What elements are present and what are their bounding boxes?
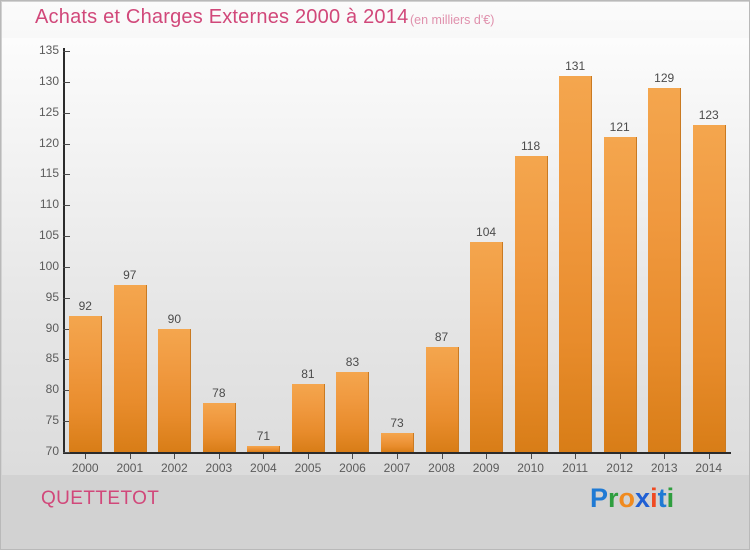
logo-letter: o	[619, 485, 636, 512]
x-axis-tick	[130, 454, 131, 459]
bar-value-label: 87	[412, 330, 472, 344]
bar-value-label: 83	[322, 355, 382, 369]
chart-header: Achats et Charges Externes 2000 à 2014 (…	[2, 2, 750, 38]
y-axis-tick	[63, 113, 70, 114]
plot-area: 707580859095100105110115120125130135 200…	[2, 38, 750, 475]
bar-value-label: 73	[367, 416, 427, 430]
y-axis-line	[63, 48, 65, 454]
logo-letter: P	[590, 485, 608, 512]
bar[interactable]	[693, 125, 726, 452]
bar-value-label: 78	[189, 386, 249, 400]
y-axis-tick-label: 95	[17, 290, 59, 304]
y-axis-tick-label: 110	[17, 197, 59, 211]
bar[interactable]	[203, 403, 236, 452]
bar-value-label: 104	[456, 225, 516, 239]
logo-letter: t	[658, 485, 667, 512]
bar[interactable]	[69, 316, 102, 452]
bar-value-label: 118	[501, 139, 561, 153]
y-axis-tick	[63, 82, 70, 83]
x-axis-tick-label: 2014	[679, 461, 739, 475]
y-axis-tick-label: 75	[17, 413, 59, 427]
x-axis-tick	[531, 454, 532, 459]
x-axis-tick	[575, 454, 576, 459]
chart-footer: QUETTETOT Proxiti	[2, 475, 750, 550]
bar[interactable]	[381, 433, 414, 452]
bar-value-label: 123	[679, 108, 739, 122]
y-axis-tick-label: 85	[17, 351, 59, 365]
page-title: Achats et Charges Externes 2000 à 2014	[35, 6, 408, 29]
x-axis-tick	[219, 454, 220, 459]
chart-units-subtitle: (en milliers d'€)	[410, 13, 494, 27]
y-axis-tick-label: 135	[17, 43, 59, 57]
logo-letter: i	[667, 485, 675, 512]
y-axis-tick-label: 105	[17, 228, 59, 242]
y-axis-tick-label: 130	[17, 74, 59, 88]
bar[interactable]	[158, 329, 191, 452]
y-axis-tick-label: 115	[17, 166, 59, 180]
logo-letter: i	[650, 485, 658, 512]
y-axis-tick-label: 125	[17, 105, 59, 119]
x-axis-tick	[620, 454, 621, 459]
bar[interactable]	[648, 88, 681, 452]
y-axis-tick	[63, 144, 70, 145]
bar[interactable]	[247, 446, 280, 452]
y-axis-tick	[63, 452, 70, 453]
bar-value-label: 90	[144, 312, 204, 326]
x-axis-tick	[174, 454, 175, 459]
x-axis-tick	[263, 454, 264, 459]
bar[interactable]	[470, 242, 503, 452]
chart-window: Achats et Charges Externes 2000 à 2014 (…	[0, 0, 750, 550]
bar-value-label: 121	[590, 120, 650, 134]
y-axis-tick-label: 100	[17, 259, 59, 273]
bar[interactable]	[604, 137, 637, 452]
bar-value-label: 71	[233, 429, 293, 443]
x-axis-tick	[308, 454, 309, 459]
y-axis-tick-label: 80	[17, 382, 59, 396]
y-axis-tick-label: 90	[17, 321, 59, 335]
bar-value-label: 131	[545, 59, 605, 73]
x-axis-tick	[442, 454, 443, 459]
y-axis-tick-label: 70	[17, 444, 59, 458]
bar-value-label: 97	[100, 268, 160, 282]
logo-letter: r	[608, 485, 619, 512]
bar[interactable]	[336, 372, 369, 452]
x-axis-tick	[397, 454, 398, 459]
logo-letter: x	[635, 485, 650, 512]
bar[interactable]	[426, 347, 459, 452]
x-axis-tick	[709, 454, 710, 459]
bar-value-label: 81	[278, 367, 338, 381]
y-axis-tick	[63, 205, 70, 206]
bar[interactable]	[292, 384, 325, 452]
bar-value-label: 92	[55, 299, 115, 313]
y-axis-tick	[63, 236, 70, 237]
bar[interactable]	[559, 76, 592, 452]
y-axis-tick	[63, 174, 70, 175]
y-axis-tick-label: 120	[17, 136, 59, 150]
x-axis-tick	[85, 454, 86, 459]
proxiti-logo[interactable]: Proxiti	[590, 485, 674, 512]
x-axis-tick	[664, 454, 665, 459]
y-axis-tick	[63, 51, 70, 52]
y-axis-tick	[63, 267, 70, 268]
bar-value-label: 129	[634, 71, 694, 85]
bar[interactable]	[515, 156, 548, 452]
x-axis-tick	[352, 454, 353, 459]
bar[interactable]	[114, 285, 147, 452]
city-name-label: QUETTETOT	[41, 488, 159, 510]
x-axis-tick	[486, 454, 487, 459]
